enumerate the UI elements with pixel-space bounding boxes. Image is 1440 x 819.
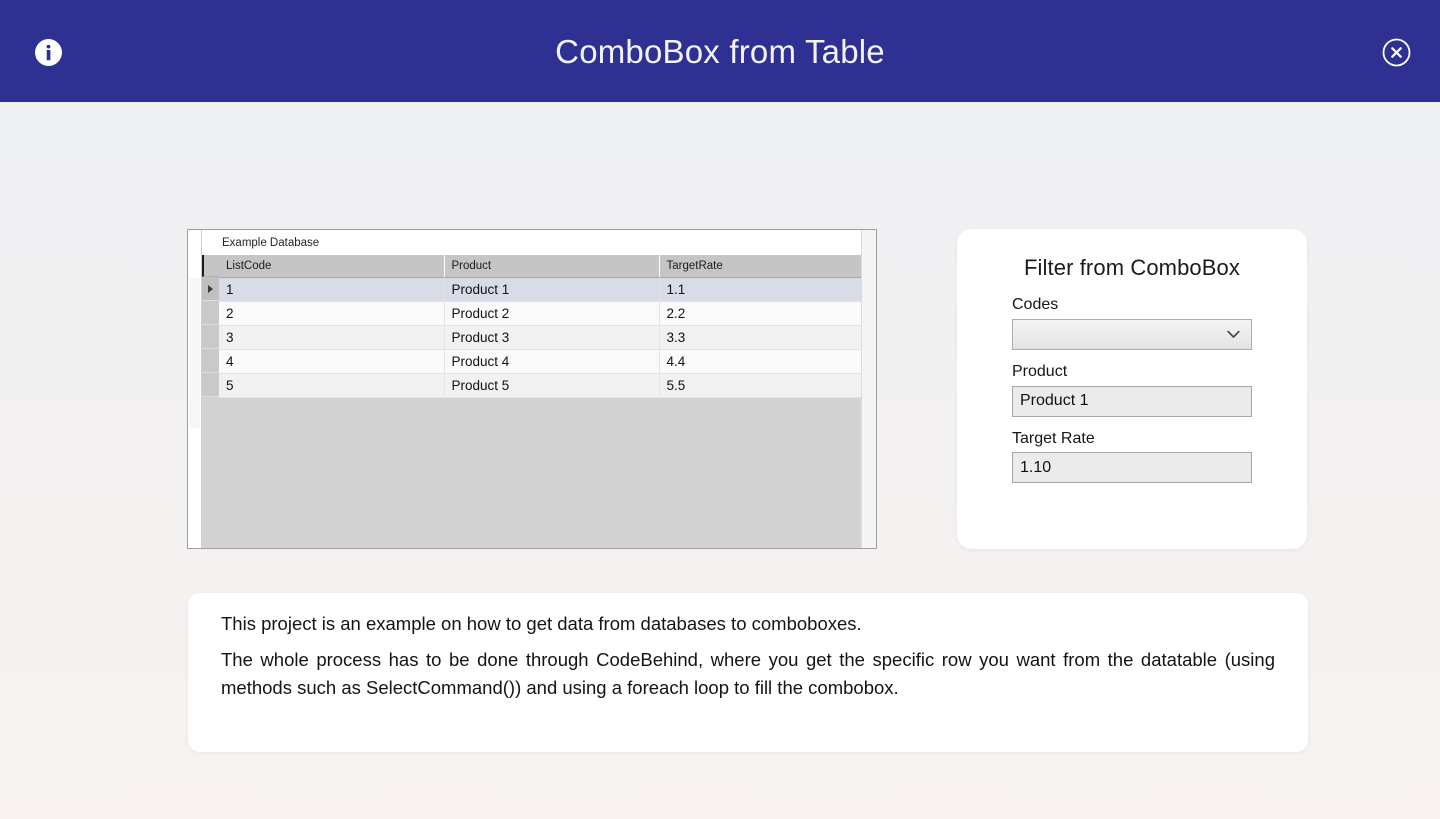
table-header-row: ListCode Product TargetRate (219, 255, 861, 277)
info-button[interactable] (33, 39, 64, 70)
cell-listcode[interactable]: 2 (219, 301, 444, 325)
close-button[interactable] (1381, 39, 1412, 70)
column-header-targetrate[interactable]: TargetRate (659, 255, 861, 277)
cell-product[interactable]: Product 5 (444, 373, 659, 397)
grid-columns-area: ListCode Product TargetRate 1 Product 1 … (219, 255, 861, 548)
table-row[interactable]: 2 Product 2 2.2 (219, 301, 861, 325)
grid-vertical-scrollbar-left[interactable] (188, 230, 202, 548)
current-row-arrow-icon (208, 285, 213, 293)
cell-listcode[interactable]: 4 (219, 349, 444, 373)
row-header-column (202, 255, 219, 548)
description-paragraph-1: This project is an example on how to get… (221, 610, 1275, 637)
row-header-cell[interactable] (202, 349, 219, 373)
cell-product[interactable]: Product 3 (444, 325, 659, 349)
row-header-cell[interactable] (202, 373, 219, 397)
cell-targetrate[interactable]: 1.1 (659, 277, 861, 301)
description-panel: This project is an example on how to get… (188, 593, 1308, 752)
info-circle-icon (33, 37, 64, 73)
column-header-listcode[interactable]: ListCode (219, 255, 444, 277)
title-bar: ComboBox from Table (0, 0, 1440, 102)
cell-product[interactable]: Product 1 (444, 277, 659, 301)
cell-targetrate[interactable]: 4.4 (659, 349, 861, 373)
row-header-cell[interactable] (202, 277, 219, 301)
cell-targetrate[interactable]: 3.3 (659, 325, 861, 349)
target-rate-field[interactable]: 1.10 (1012, 452, 1252, 483)
chevron-down-icon (1227, 326, 1240, 342)
grid-vertical-scrollbar-right[interactable] (861, 230, 876, 548)
table-row[interactable]: 3 Product 3 3.3 (219, 325, 861, 349)
data-grid-body: Example Database (202, 230, 861, 548)
cell-listcode[interactable]: 3 (219, 325, 444, 349)
grid-scroll-area: ListCode Product TargetRate 1 Product 1 … (202, 255, 861, 548)
description-paragraph-2: The whole process has to be done through… (221, 646, 1275, 701)
filter-panel: Filter from ComboBox Codes Product Produ… (957, 229, 1307, 549)
scrollbar-thumb[interactable] (189, 278, 200, 428)
cell-listcode[interactable]: 1 (219, 277, 444, 301)
table-row[interactable]: 5 Product 5 5.5 (219, 373, 861, 397)
data-grid-table: ListCode Product TargetRate 1 Product 1 … (219, 255, 861, 398)
product-field[interactable]: Product 1 (1012, 386, 1252, 417)
target-rate-label: Target Rate (1012, 429, 1252, 450)
product-field-value: Product 1 (1020, 392, 1088, 410)
page-title: ComboBox from Table (555, 35, 885, 68)
cell-listcode[interactable]: 5 (219, 373, 444, 397)
codes-combobox[interactable] (1012, 319, 1252, 350)
row-header-cell[interactable] (202, 301, 219, 325)
table-row[interactable]: 4 Product 4 4.4 (219, 349, 861, 373)
cell-product[interactable]: Product 2 (444, 301, 659, 325)
table-row[interactable]: 1 Product 1 1.1 (219, 277, 861, 301)
data-grid-panel[interactable]: Example Database (187, 229, 877, 549)
grid-empty-area (219, 398, 861, 549)
product-label: Product (1012, 362, 1252, 383)
cell-targetrate[interactable]: 5.5 (659, 373, 861, 397)
filter-panel-title: Filter from ComboBox (1012, 255, 1252, 281)
codes-label: Codes (1012, 295, 1252, 316)
cell-targetrate[interactable]: 2.2 (659, 301, 861, 325)
cell-product[interactable]: Product 4 (444, 349, 659, 373)
row-header-filler (202, 397, 219, 548)
target-rate-field-value: 1.10 (1020, 459, 1051, 477)
column-header-product[interactable]: Product (444, 255, 659, 277)
row-header-cell[interactable] (202, 325, 219, 349)
close-circle-icon (1381, 37, 1412, 73)
grid-caption: Example Database (202, 230, 861, 255)
row-header-corner (202, 255, 219, 277)
